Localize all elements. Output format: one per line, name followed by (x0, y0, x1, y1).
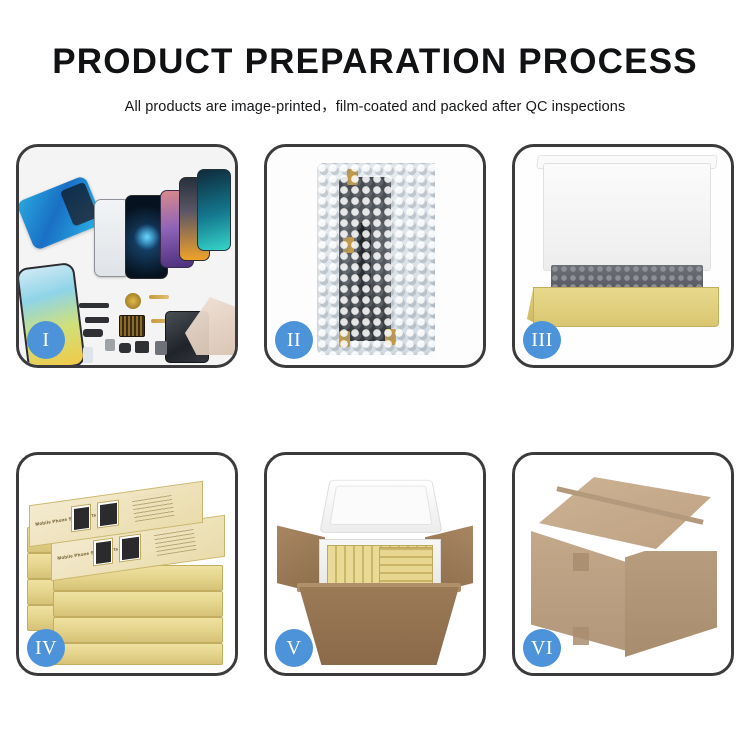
box-screen-art-top-1 (71, 504, 91, 533)
part-vibrator (135, 341, 149, 353)
carton-right-face (625, 551, 717, 657)
bubble-highlight-texture (317, 163, 435, 355)
panel-stacked-boxes[interactable]: Mobile Phone Spare Parts Mobile Phone Sp… (16, 452, 238, 676)
part-glass-chip (83, 347, 93, 363)
white-foam-lid (319, 480, 442, 533)
bubble-wrap-bag (317, 163, 435, 355)
part-speaker (119, 343, 131, 353)
stacked-box-r4 (53, 643, 223, 665)
step-badge-2: II (275, 321, 313, 359)
panel-carton-with-foam[interactable]: V (264, 452, 486, 676)
box-screen-art-top-2 (97, 499, 119, 528)
page-subtitle: All products are image-printed，film-coat… (0, 95, 750, 116)
panel-open-inner-box[interactable]: III (512, 144, 734, 368)
carton-flap-tab-lower (573, 627, 589, 645)
panel-products-and-parts[interactable]: I (16, 144, 238, 368)
part-gold-coin-camera (125, 293, 141, 309)
stacked-box-r2 (53, 591, 223, 617)
teal-display-icon (197, 169, 231, 251)
panel-sealed-carton[interactable]: VI (512, 452, 734, 676)
step-badge-4: IV (27, 629, 65, 667)
step-badge-6: VI (523, 629, 561, 667)
process-step-grid: I II (16, 144, 734, 676)
part-silver-clip (105, 339, 115, 351)
part-gold-flex-1 (149, 295, 169, 299)
step-badge-1: I (27, 321, 65, 359)
carton-flap-tab-upper (573, 553, 589, 571)
white-box-lid (543, 163, 711, 271)
part-chip-grid (119, 315, 145, 337)
box-screen-art-front-1 (93, 538, 113, 567)
part-small-flex (85, 317, 109, 323)
page-title: PRODUCT PREPARATION PROCESS (0, 44, 750, 79)
panel-bubble-wrapped-screen[interactable]: II (264, 144, 486, 368)
box-screen-art-front-2 (119, 533, 141, 562)
step-badge-3: III (523, 321, 561, 359)
header: PRODUCT PREPARATION PROCESS All products… (0, 0, 750, 116)
brown-carton-body (299, 587, 459, 665)
part-bracket (83, 329, 103, 337)
product-preparation-infographic: PRODUCT PREPARATION PROCESS All products… (0, 0, 750, 750)
yellow-box-body (533, 287, 719, 327)
step-badge-5: V (275, 629, 313, 667)
stacked-box-r3 (53, 617, 223, 643)
part-connector-bar (79, 303, 109, 308)
part-metal-shield (155, 341, 167, 355)
blue-lcd-strip-icon (19, 175, 104, 251)
